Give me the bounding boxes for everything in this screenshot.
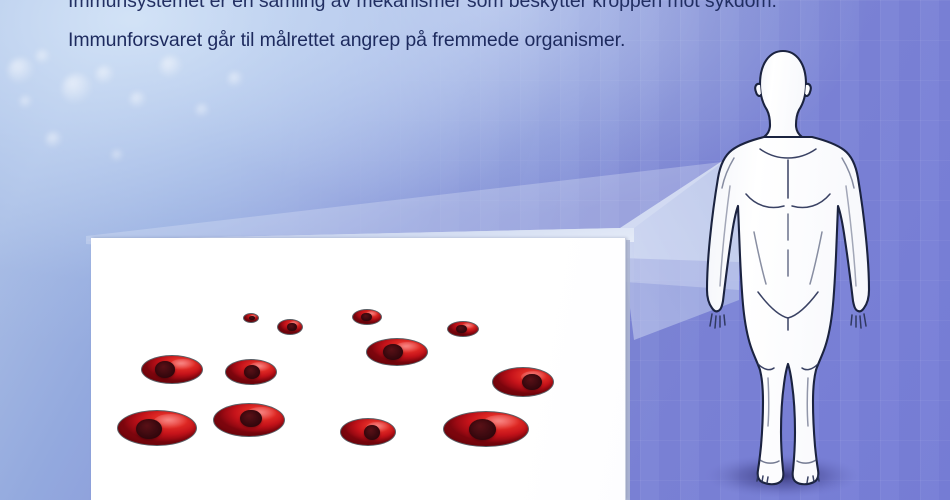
blood-cell bbox=[141, 355, 203, 384]
magnified-panel bbox=[86, 228, 634, 500]
panel-face bbox=[91, 238, 625, 500]
blood-cell-nucleus bbox=[469, 419, 497, 440]
blood-cell-nucleus bbox=[522, 374, 542, 391]
blood-cell bbox=[277, 319, 303, 335]
blood-cell bbox=[213, 403, 285, 437]
blood-cell bbox=[443, 411, 529, 447]
blood-cell bbox=[117, 410, 197, 446]
blood-cell-nucleus bbox=[287, 323, 297, 332]
blood-cell-nucleus bbox=[361, 313, 372, 322]
panel-right-edge bbox=[625, 240, 630, 500]
blood-cell bbox=[492, 367, 554, 397]
blood-cell-nucleus bbox=[456, 325, 467, 334]
blood-cell-nucleus bbox=[364, 425, 381, 440]
blood-cell-nucleus bbox=[136, 419, 162, 439]
human-figure bbox=[700, 46, 878, 500]
blood-cell bbox=[352, 309, 382, 325]
headline-block: Immunsystemet er en samling av mekanisme… bbox=[68, 0, 898, 55]
blood-cell bbox=[340, 418, 396, 446]
blood-cell-group bbox=[91, 238, 625, 500]
blood-cell-nucleus bbox=[383, 344, 403, 360]
blood-cell bbox=[366, 338, 428, 366]
slide-canvas: Immunsystemet er en samling av mekanisme… bbox=[0, 0, 950, 500]
blood-cell-nucleus bbox=[155, 361, 175, 377]
blood-cell bbox=[447, 321, 479, 337]
headline-line-2: Immunforsvaret går til målrettet angrep … bbox=[68, 25, 898, 55]
blood-cell bbox=[243, 313, 259, 323]
headline-line-1: Immunsystemet er en samling av mekanisme… bbox=[68, 0, 898, 16]
blood-cell bbox=[225, 359, 277, 385]
